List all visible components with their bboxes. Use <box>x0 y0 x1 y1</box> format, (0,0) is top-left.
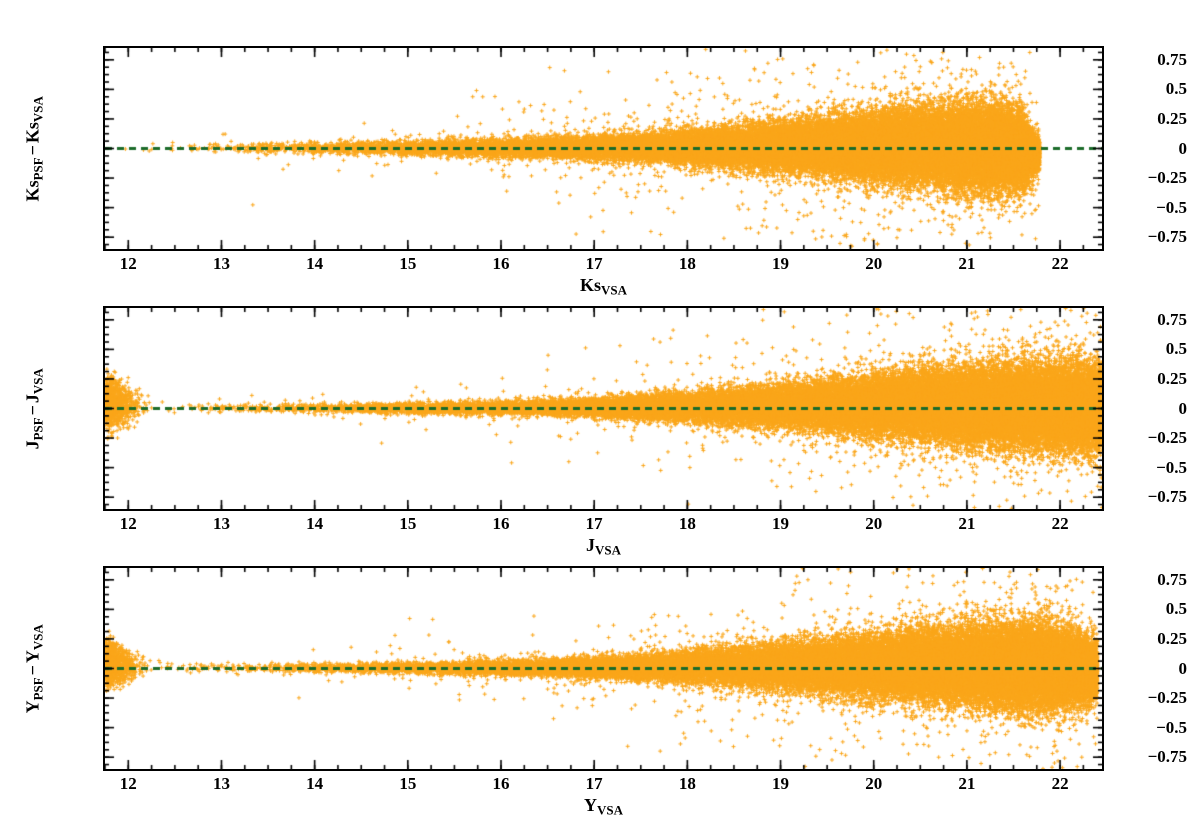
ytick-label: 0.25 <box>1092 109 1187 129</box>
xtick-label: 14 <box>306 254 323 274</box>
xtick-label: 21 <box>958 774 975 794</box>
ytick-label: −0.5 <box>1092 198 1187 218</box>
plot-area-3[interactable] <box>103 566 1104 771</box>
xtick-label: 19 <box>772 514 789 534</box>
ytick-label: 0.5 <box>1092 339 1187 359</box>
y-axis-label-2: JPSF−JVSA <box>22 266 46 551</box>
ytick-label: −0.5 <box>1092 718 1187 738</box>
xtick-label: 20 <box>865 514 882 534</box>
ytick-label: −0.5 <box>1092 458 1187 478</box>
ytick-label: −0.25 <box>1092 428 1187 448</box>
ytick-label: 0.25 <box>1092 369 1187 389</box>
xtick-label: 21 <box>958 514 975 534</box>
xtick-label: 18 <box>679 254 696 274</box>
xtick-label: 13 <box>213 254 230 274</box>
xtick-label: 17 <box>586 514 603 534</box>
xtick-label: 21 <box>958 254 975 274</box>
xtick-label: 12 <box>120 254 137 274</box>
xtick-label: 14 <box>306 514 323 534</box>
xtick-label: 20 <box>865 774 882 794</box>
xtick-label: 22 <box>1052 254 1069 274</box>
xtick-label: 16 <box>493 774 510 794</box>
ytick-label: 0 <box>1092 399 1187 419</box>
ytick-label: 0.25 <box>1092 629 1187 649</box>
xtick-label: 20 <box>865 254 882 274</box>
ytick-label: 0 <box>1092 139 1187 159</box>
ytick-label: 0.5 <box>1092 79 1187 99</box>
y-axis-label-3: YPSF−YVSA <box>22 526 46 811</box>
plot-area-2[interactable] <box>103 306 1104 511</box>
ytick-label: 0.75 <box>1092 50 1187 70</box>
ytick-label: −0.75 <box>1092 487 1187 507</box>
axis-ticks-2 <box>105 308 1102 509</box>
xtick-label: 19 <box>772 774 789 794</box>
axis-ticks-3 <box>105 568 1102 769</box>
xtick-label: 13 <box>213 774 230 794</box>
axis-ticks-1 <box>105 48 1102 249</box>
xtick-label: 12 <box>120 514 137 534</box>
xtick-label: 12 <box>120 774 137 794</box>
ytick-label: −0.75 <box>1092 747 1187 767</box>
xtick-label: 22 <box>1052 774 1069 794</box>
x-axis-label-3: YVSA <box>584 795 623 819</box>
xtick-label: 19 <box>772 254 789 274</box>
y-axis-label-1: KsPSF−KsVSA <box>22 6 46 291</box>
plot-area-1[interactable] <box>103 46 1104 251</box>
x-axis-label-2: JVSA <box>586 535 621 559</box>
ytick-label: 0.75 <box>1092 310 1187 330</box>
ytick-label: −0.25 <box>1092 688 1187 708</box>
xtick-label: 16 <box>493 254 510 274</box>
xtick-label: 17 <box>586 774 603 794</box>
xtick-label: 14 <box>306 774 323 794</box>
xtick-label: 15 <box>399 774 416 794</box>
xtick-label: 17 <box>586 254 603 274</box>
ytick-label: 0.75 <box>1092 570 1187 590</box>
ytick-label: −0.25 <box>1092 168 1187 188</box>
xtick-label: 18 <box>679 514 696 534</box>
figure-root: 0.750.50.250−0.25−0.5−0.7512131415161718… <box>0 0 1187 831</box>
ytick-label: −0.75 <box>1092 227 1187 247</box>
xtick-label: 22 <box>1052 514 1069 534</box>
xtick-label: 18 <box>679 774 696 794</box>
xtick-label: 15 <box>399 514 416 534</box>
ytick-label: 0 <box>1092 659 1187 679</box>
ytick-label: 0.5 <box>1092 599 1187 619</box>
x-axis-label-1: KsVSA <box>580 275 627 299</box>
xtick-label: 13 <box>213 514 230 534</box>
xtick-label: 16 <box>493 514 510 534</box>
xtick-label: 15 <box>399 254 416 274</box>
